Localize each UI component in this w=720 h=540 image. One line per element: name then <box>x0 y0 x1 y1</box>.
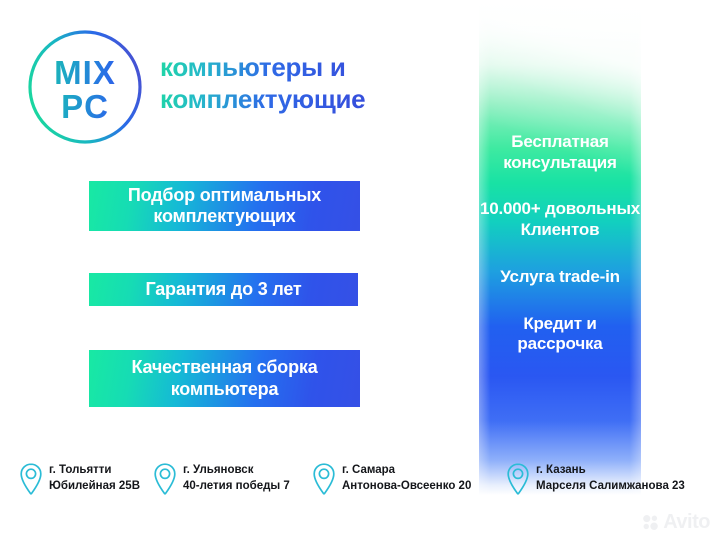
address-item-ulyanovsk: г. Ульяновск 40-летия победы 7 <box>152 462 290 496</box>
address-text: г. Казань Марселя Салимжанова 23 <box>536 463 685 494</box>
promo-item-happy-clients: 10.000+ довольных Клиентов <box>479 199 641 240</box>
avito-logo-icon <box>642 514 659 531</box>
address-city: г. Самара <box>342 463 471 479</box>
address-street: 40-летия победы 7 <box>183 479 290 495</box>
avito-wordmark: Avito <box>663 511 710 534</box>
address-street: Марселя Салимжанова 23 <box>536 479 685 495</box>
map-pin-icon <box>152 462 178 496</box>
promo-benefits-list: Бесплатная консультация 10.000+ довольны… <box>479 132 641 355</box>
address-text: г. Ульяновск 40-летия победы 7 <box>183 463 290 494</box>
feature-bar-warranty: Гарантия до 3 лет <box>89 273 358 306</box>
address-city: г. Казань <box>536 463 685 479</box>
promo-item-credit-installment: Кредит и рассрочка <box>479 314 641 355</box>
map-pin-icon <box>505 462 531 496</box>
address-item-samara: г. Самара Антонова-Овсеенко 20 <box>311 462 471 496</box>
page-title: компьютеры и комплектующие <box>160 52 480 115</box>
promo-item-trade-in: Услуга trade-in <box>479 267 641 288</box>
logo-text-mix: MIX <box>26 54 144 92</box>
address-street: Антонова-Овсеенко 20 <box>342 479 471 495</box>
logo-text-pc: PC <box>26 88 144 126</box>
address-street: Юбилейная 25В <box>49 479 140 495</box>
map-pin-icon <box>311 462 337 496</box>
address-city: г. Ульяновск <box>183 463 290 479</box>
address-text: г. Тольятти Юбилейная 25В <box>49 463 140 494</box>
address-item-kazan: г. Казань Марселя Салимжанова 23 <box>505 462 685 496</box>
promo-item-free-consultation: Бесплатная консультация <box>479 132 641 173</box>
feature-bar-quality-build: Качественная сборка компьютера <box>89 350 360 407</box>
logo-mark: MIX PC <box>26 28 144 146</box>
feature-bar-optimal-parts: Подбор оптимальных комплектующих <box>89 181 360 231</box>
address-item-tolyatti: г. Тольятти Юбилейная 25В <box>18 462 140 496</box>
address-row: г. Тольятти Юбилейная 25В г. Ульяновск 4… <box>0 462 720 507</box>
address-text: г. Самара Антонова-Овсеенко 20 <box>342 463 471 494</box>
map-pin-icon <box>18 462 44 496</box>
address-city: г. Тольятти <box>49 463 140 479</box>
avito-watermark: Avito <box>642 511 710 534</box>
